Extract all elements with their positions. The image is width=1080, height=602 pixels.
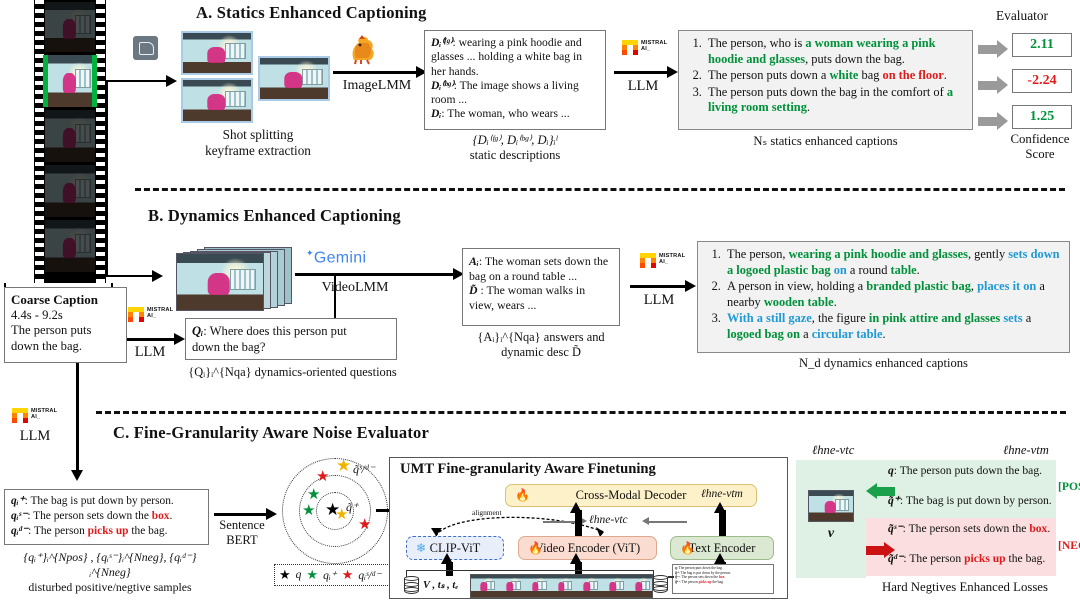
seg: , the figure <box>812 311 869 325</box>
static-descriptions-box: Dᵢ⁽ᶠᵍ⁾: wearing a pink hoodie and glasse… <box>424 30 606 130</box>
film-frame-selected <box>45 55 95 107</box>
pos-tag: [POS] <box>1058 480 1080 493</box>
fire-icon: 🔥 <box>528 541 543 556</box>
seg-blue: sets down <box>1008 247 1059 261</box>
arrow-head-clip <box>441 553 453 564</box>
coarse-caption-line1: The person puts <box>11 323 120 338</box>
segment-marker-right <box>92 55 97 107</box>
arrow-head-text-dec <box>714 502 726 513</box>
question-key: Qᵢ <box>192 324 203 338</box>
arrow-to-static-desc <box>333 71 418 74</box>
seg: The person puts down the bag in the comf… <box>708 85 947 99</box>
qa-formula-label: {Qᵢ}ᵢ^{Nqa} dynamics-oriented questions <box>150 365 435 380</box>
connector-film-to-split <box>106 80 168 82</box>
seg: : The person <box>903 552 964 565</box>
arrow-head-samples <box>71 470 83 481</box>
seg: The person puts down a <box>708 68 829 82</box>
star-positive: ★ <box>302 504 315 519</box>
hne-pos-line-1: q̃⁺: The bag is put down by person. <box>888 494 1052 508</box>
seg: : The person sets down the <box>680 575 719 579</box>
star-negative: ★ <box>316 470 329 485</box>
text-db-connector <box>668 576 674 578</box>
seg: : The person puts down the bag. <box>894 464 1042 477</box>
mistral-line2: AI_ <box>31 414 40 420</box>
clip-vit-label: CLIP-ViT <box>430 541 481 556</box>
arrow-shaft-video-dec <box>575 510 582 536</box>
snowflake-icon: ❄ <box>416 541 426 556</box>
statics-caption-item: The person puts down a white bag on the … <box>705 68 964 84</box>
mistral-icon <box>640 253 656 268</box>
seg: A person in view, holding a <box>727 279 866 293</box>
arrow-to-answers <box>295 273 455 276</box>
seg-blue: circular table <box>812 327 883 341</box>
coarse-caption-title: Coarse Caption <box>11 292 120 308</box>
seg: . <box>944 68 947 82</box>
llm-label-a: LLM <box>614 78 672 95</box>
mistral-line2: AI_ <box>641 46 650 52</box>
answer-text-1: : The woman walks in view, wears ... <box>469 283 585 312</box>
seg-green: wearing a pink hoodie and glasses <box>789 247 968 261</box>
arrow-head-text <box>714 553 726 564</box>
static-desc-key-2: Dᵢ <box>431 107 441 120</box>
static-desc-label: static descriptions <box>424 148 606 163</box>
loss-vtm-label-outer: ℓhne-vtm <box>1003 443 1049 458</box>
legend-star-anchor-icon: ★ <box>279 567 291 583</box>
static-desc-key-0: Dᵢ⁽ᶠᵍ⁾ <box>431 36 453 49</box>
seg: The person, who is <box>708 36 805 50</box>
seg: : The person <box>680 580 699 584</box>
seg-blue: places it on <box>977 279 1036 293</box>
hne-title: Hard Negtives Enhanced Losses <box>850 580 1080 595</box>
score-value: 1.25 <box>1030 109 1055 125</box>
imagelmm-logo-icon <box>345 34 379 66</box>
seg-green: white <box>829 68 858 82</box>
shot-splitting-line2: keyframe extraction <box>183 143 333 159</box>
film-frame <box>45 110 95 162</box>
seg: : The person sets down the <box>903 522 1030 535</box>
loss-vtc-label: ℓhne-vtc <box>589 514 628 526</box>
coarse-caption-line2: down the bag. <box>11 339 120 354</box>
fire-icon: 🔥 <box>515 488 530 503</box>
statics-caption-item: The person puts down the bag in the comf… <box>705 85 964 116</box>
seg: . <box>807 100 810 114</box>
score-arrow-2 <box>978 76 1008 94</box>
score-value: 2.11 <box>1030 37 1054 53</box>
ns-captions-label: Nₛ statics enhanced captions <box>678 133 973 149</box>
mistral-icon <box>622 40 638 55</box>
arrow-head-to-split <box>166 75 177 87</box>
section-b-title: B. Dynamics Enhanced Captioning <box>148 206 401 226</box>
seg-green: wooden table <box>764 295 834 309</box>
arrow-head-static-captions <box>667 66 678 78</box>
seg: : The bag is put down by person. <box>900 494 1052 507</box>
arrow-to-embedding-space <box>214 513 269 516</box>
seg: a round <box>847 263 891 277</box>
connector-coarse-to-samples <box>76 363 79 474</box>
seg: , puts down the bag. <box>805 52 905 66</box>
mistral-line2: AI_ <box>659 259 668 265</box>
shot-split-icon <box>133 36 158 60</box>
arrow-to-static-captions <box>614 71 669 74</box>
video-symbol: v <box>796 526 866 542</box>
sentence-bert-line2: BERT <box>211 533 273 548</box>
dynamics-captions-list: The person, wearing a pink hoodie and gl… <box>700 247 1067 343</box>
seg: : The person sets down the <box>27 510 151 522</box>
seg-blue: on <box>834 263 847 277</box>
key: q̃ˢ⁻ <box>888 522 903 535</box>
static-desc-formula: {Dᵢ⁽ᶠᵍ⁾, Dᵢ⁽ᵇᵍ⁾, Dᵢ}ᵢˡ <box>424 133 606 148</box>
seg-blue: sets <box>1003 311 1022 325</box>
sentence-bert-label: Sentence BERT <box>211 518 273 548</box>
dynamics-caption-item: The person, wearing a pink hoodie and gl… <box>724 247 1061 278</box>
sentence-bert-line1: Sentence <box>211 518 273 533</box>
seg-red: picks up <box>964 552 1006 565</box>
videolmm-label: VideoLMM <box>300 280 410 296</box>
hne-neg-line-1: q̃ᵈ⁻: The person picks up the bag. <box>888 552 1045 566</box>
video-clip-stack <box>176 247 292 309</box>
answers-formula: {Aᵢ}ᵢ^{Nqa} answers and <box>452 330 630 345</box>
seg-green: in pink attire and glasses <box>869 311 1000 325</box>
gemini-logo: ✦Gemini <box>306 248 366 267</box>
filmstrip-perforations-right <box>96 0 105 283</box>
seg: : The person <box>28 525 88 537</box>
seg: . <box>170 510 173 522</box>
dynamics-caption-item: With a still gaze, the figure in pink at… <box>724 311 1061 342</box>
disturbed-samples-caption: {qᵢ⁺}ᵢ^{Npos} , {qᵢˢ⁻}ᵢ^{Nneg}, {qᵢᵈ⁻}ᵢ^… <box>4 550 216 595</box>
film-frame <box>45 165 95 217</box>
video-encoder-label: Video Encoder (ViT) <box>535 541 640 556</box>
umt-panel: UMT Fine-granularity Aware Finetuning 🔥 … <box>389 457 788 599</box>
gemini-spark-icon: ✦ <box>306 248 314 258</box>
question-line2: down the bag? <box>192 339 390 355</box>
statics-enhanced-captions-box: The person, who is a woman wearing a pin… <box>678 30 973 130</box>
cross-modal-decoder-label: Cross-Modal Decoder <box>576 488 687 503</box>
seg-red: box <box>152 510 170 522</box>
keyframe-thumb <box>258 56 330 101</box>
pos-arrow <box>866 483 895 499</box>
section-c-title: C. Fine-Granularity Aware Noise Evaluato… <box>113 423 429 443</box>
seg: . <box>1047 522 1050 535</box>
mistral-wordmark: MISTRAL AI_ <box>31 408 57 420</box>
legend-star-negative-icon: ★ <box>342 567 354 583</box>
keyframe-thumb <box>181 31 253 75</box>
neg-outer-label: q̃ˢ/ᵈ⁻ <box>353 462 375 477</box>
filmstrip-perforations-left <box>35 0 44 283</box>
question-box: Qᵢ: Where does this person put down the … <box>185 318 397 360</box>
legend-label-negative: qᵢˢ/ᵈ⁻ <box>358 568 381 582</box>
disturbed-label: disturbed positive/negtive samples <box>4 580 216 595</box>
mistral-logo-c: MISTRAL AI_ <box>12 408 57 423</box>
imagelmm-label: ImageLMM <box>337 78 417 94</box>
mistral-icon <box>128 307 144 322</box>
seg: . <box>917 263 920 277</box>
sample-key-0: qᵢ⁺ <box>11 495 25 507</box>
coarse-caption-time: 4.4s - 9.2s <box>11 308 120 323</box>
statics-captions-list: The person, who is a woman wearing a pin… <box>681 36 970 116</box>
connector-question-to-videolmm <box>334 276 336 318</box>
sample-key-2: qᵢᵈ⁻ <box>11 525 28 537</box>
sample-key-1: qᵢˢ⁻ <box>11 510 27 522</box>
arrow-head-video-dec <box>570 502 582 513</box>
arrow-head-dynamic-captions <box>685 280 696 292</box>
hne-video-thumb <box>808 490 852 520</box>
seg-green: table <box>891 263 917 277</box>
static-descriptions-caption: {Dᵢ⁽ᶠᵍ⁾, Dᵢ⁽ᵇᵍ⁾, Dᵢ}ᵢˡ static descriptio… <box>424 133 606 163</box>
seg: bag <box>858 68 882 82</box>
neg-arrow <box>866 542 895 558</box>
seg-red: picks up <box>699 580 712 584</box>
seg: a <box>800 327 812 341</box>
hne-video-column: v <box>796 460 866 578</box>
seg: : The bag is put down by the person. <box>679 571 731 575</box>
score-arrow-1 <box>978 40 1008 58</box>
statics-caption-item: The person, who is a woman wearing a pin… <box>705 36 964 67</box>
seg-red: box <box>1029 522 1047 535</box>
arrow-to-dynamic-captions <box>630 285 687 288</box>
seg: . <box>882 327 885 341</box>
confidence-score-2: -2.24 <box>1012 69 1072 93</box>
connector-to-videolmm <box>106 275 154 277</box>
hne-pos-line-0: q: The person puts down the bag. <box>888 464 1042 478</box>
arrow-shaft-text-dec <box>719 510 726 536</box>
seg-blue: With a still gaze <box>727 311 812 325</box>
star-negative: ★ <box>358 518 371 533</box>
umt-title: UMT Fine-granularity Aware Finetuning <box>400 461 656 478</box>
video-encoder: 🔥 Video Encoder (ViT) <box>518 536 657 560</box>
divider-b-c <box>96 411 1066 414</box>
mistral-logo-b2: MISTRAL AI_ <box>640 253 685 268</box>
legend-label-positive: qᵢ⁺ <box>323 568 337 582</box>
seg-red: on the floor <box>883 68 944 82</box>
dynamics-enhanced-captions-box: The person, wearing a pink hoodie and gl… <box>697 241 1070 353</box>
inputs-symbol: V , tₛ , tₑ <box>423 579 458 591</box>
loss-vtc-label-outer: ℓhne-vtc <box>812 443 854 458</box>
seg-red: picks up <box>88 525 129 537</box>
answers-box: Aᵢ: The woman sets down the bag on a rou… <box>462 248 620 326</box>
text-db-line: q̃ᵈ⁻: The person picks up the bag. <box>675 580 771 585</box>
text-database-icon <box>653 575 668 595</box>
film-frame <box>45 2 95 52</box>
neg-tag: [NEG] <box>1058 539 1080 552</box>
nd-captions-label: N_d dynamics enhanced captions <box>697 356 1070 371</box>
star-positive: ★ <box>307 488 320 503</box>
seg: . <box>724 575 725 579</box>
fire-icon: 🔥 <box>680 541 695 556</box>
mistral-wordmark: MISTRAL AI_ <box>147 307 173 319</box>
static-desc-text-1: : The image shows a living room ... <box>431 79 579 106</box>
confidence-line1: Confidence <box>1000 132 1080 147</box>
disturbed-samples-box: qᵢ⁺: The bag is put down by person. qᵢˢ⁻… <box>4 489 209 545</box>
gemini-wordmark: Gemini <box>314 249 366 266</box>
seg: . <box>834 295 837 309</box>
answer-key-0: Aᵢ <box>469 254 479 268</box>
seg: , gently <box>968 247 1008 261</box>
seg: the bag. <box>1006 552 1046 565</box>
seg-green: a logoed plastic bag <box>727 263 831 277</box>
disturbed-formula: {qᵢ⁺}ᵢ^{Npos} , {qᵢˢ⁻}ᵢ^{Nneg}, {qᵢᵈ⁻}ᵢ^… <box>4 550 216 580</box>
star-negative-perturbed: ★ <box>336 458 351 473</box>
coarse-caption-box: Coarse Caption 4.4s - 9.2s The person pu… <box>4 287 127 363</box>
mistral-wordmark: MISTRAL AI_ <box>659 253 685 265</box>
confidence-score-1: 2.11 <box>1012 33 1072 57</box>
clip-vit-encoder: ❄ CLIP-ViT <box>406 536 504 560</box>
static-desc-key-1: Dᵢ⁽ᵇᵍ⁾ <box>431 79 454 92</box>
dynamics-caption-item: A person in view, holding a branded plas… <box>724 279 1061 310</box>
question-line1: : Where does this person put <box>203 324 347 338</box>
film-frame <box>45 220 95 272</box>
connector-film-down <box>106 80 108 277</box>
seg: the bag. <box>129 525 168 537</box>
video-frames-strip <box>470 574 653 598</box>
hne-neg-line-0: q̃ˢ⁻: The person sets down the box. <box>888 522 1050 536</box>
mistral-line2: AI_ <box>147 313 156 319</box>
pos-center-label: q̃⁺ <box>346 500 358 515</box>
confidence-line2: Score <box>1000 147 1080 162</box>
answer-text-0: : The woman sets down the bag on a round… <box>469 254 608 283</box>
arrow-head-to-videolmm <box>152 270 163 282</box>
seg-green: branded plastic bag <box>866 279 971 293</box>
seg-green: logoed bag on <box>727 327 800 341</box>
llm-label-c: LLM <box>10 428 60 445</box>
legend-star-positive-icon: ★ <box>306 567 318 583</box>
divider-a-b <box>135 188 1065 191</box>
seg: the bag. <box>711 580 723 584</box>
answer-key-1: D̃ <box>469 283 478 297</box>
embedding-legend: ★q ★qᵢ⁺ ★qᵢˢ/ᵈ⁻ <box>274 564 400 586</box>
mistral-logo-a: MISTRAL AI_ <box>622 40 667 55</box>
arrow-to-question <box>124 338 176 341</box>
seg: The person, <box>727 247 789 261</box>
loss-vtm-label-inner: ℓhne-vtm <box>701 488 743 500</box>
segment-marker-left <box>43 55 48 107</box>
keyframe-thumb <box>181 78 253 123</box>
sample-text-0: : The bag is put down by person. <box>25 495 174 507</box>
evaluator-label: Evaluator <box>966 8 1078 24</box>
text-samples-box: q: The person puts down the bag. q̃⁺: Th… <box>672 564 774 594</box>
static-desc-text-2: : The woman, who wears ... <box>441 107 569 120</box>
alignment-label: alignment <box>472 508 502 517</box>
source-video-filmstrip <box>34 0 106 283</box>
answers-caption: {Aᵢ}ᵢ^{Nqa} answers and dynamic desc D̃ <box>452 330 630 360</box>
loss-vtc-arrow-right <box>642 517 649 525</box>
confidence-score-3: 1.25 <box>1012 105 1072 129</box>
mistral-icon <box>12 408 28 423</box>
static-desc-text-0: : wearing a pink hoodie and glasses ... … <box>431 36 582 78</box>
seg: : The person puts down the bag. <box>677 566 723 570</box>
mistral-wordmark: MISTRAL AI_ <box>641 40 667 52</box>
llm-label-b: LLM <box>124 344 176 361</box>
mistral-logo-b: MISTRAL AI_ <box>128 307 173 322</box>
section-a-title: A. Statics Enhanced Captioning <box>196 3 427 23</box>
seg: a <box>1023 311 1032 325</box>
legend-label-anchor: q <box>296 569 302 581</box>
shot-splitting-caption: Shot splitting keyframe extraction <box>183 127 333 159</box>
answers-line2: dynamic desc D̃ <box>452 345 630 360</box>
score-arrow-3 <box>978 112 1008 130</box>
shot-splitting-line1: Shot splitting <box>183 127 333 143</box>
arrow-head-video <box>570 553 582 564</box>
video-database-icon <box>404 576 419 596</box>
loss-vtc-line-right <box>645 521 687 523</box>
llm-label-b2: LLM <box>630 292 688 309</box>
confidence-score-caption: Confidence Score <box>1000 132 1080 162</box>
score-value: -2.24 <box>1027 73 1056 89</box>
